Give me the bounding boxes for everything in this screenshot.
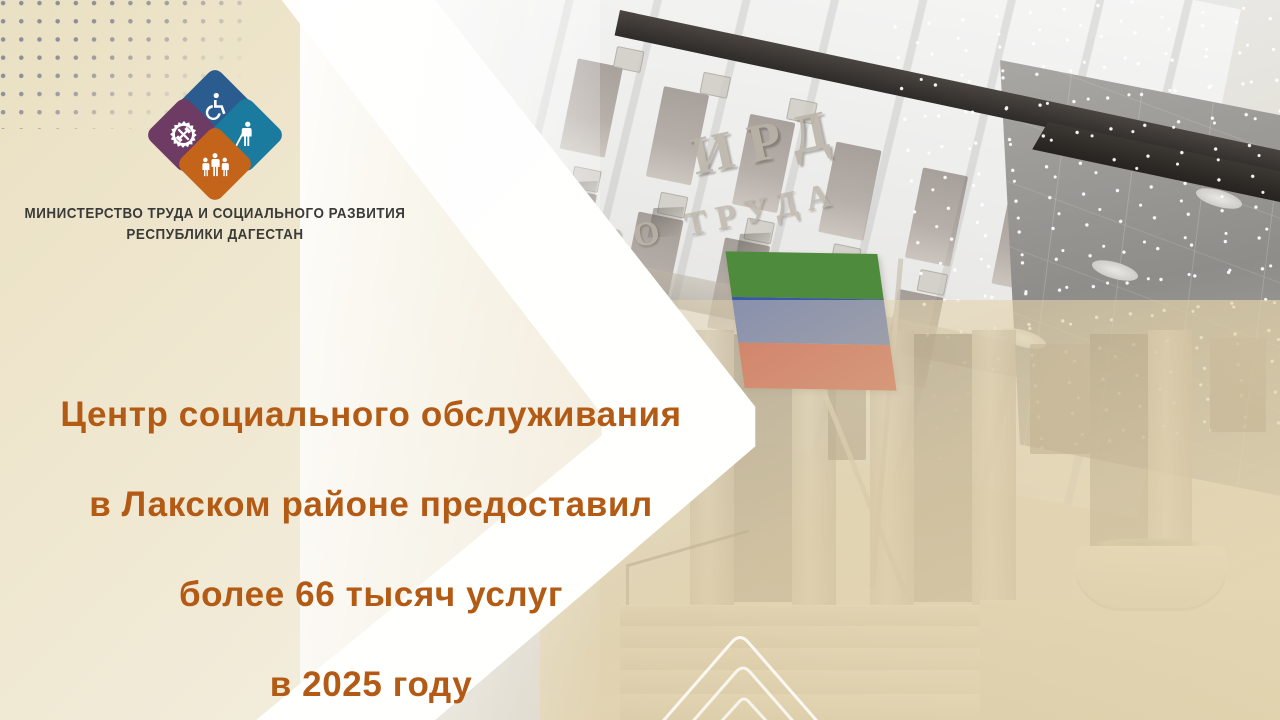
dagestan-flag (725, 251, 896, 390)
stone-planter (1076, 546, 1226, 608)
flag-band-blue (732, 297, 890, 345)
flag-band-green (725, 251, 883, 299)
flag-band-red (738, 342, 896, 390)
headline-line-2: в Лакском районе предоставил (0, 483, 742, 528)
headline-line-1: Центр социального обслуживания (0, 393, 742, 438)
ministry-logo-title-line2: РЕСПУБЛИКИ ДАГЕСТАН (17, 225, 413, 246)
headline-line-4: в 2025 году (0, 663, 742, 708)
ministry-logo-title-line1: МИНИСТЕРСТВО ТРУДА И СОЦИАЛЬНОГО РАЗВИТИ… (17, 204, 413, 225)
ministry-logo-title: МИНИСТЕРСТВО ТРУДА И СОЦИАЛЬНОГО РАЗВИТИ… (17, 204, 413, 245)
headline: Центр социального обслуживания в Лакском… (0, 348, 742, 720)
ministry-logo: МИНИСТЕРСТВО ТРУДА И СОЦИАЛЬНОГО РАЗВИТИ… (0, 78, 430, 245)
poster-root: ИРД ВО ТРУДА (0, 0, 1280, 720)
headline-line-3: более 66 тысяч услуг (0, 573, 742, 618)
entrance-pedestal (980, 600, 1280, 720)
ministry-emblem (156, 78, 274, 190)
